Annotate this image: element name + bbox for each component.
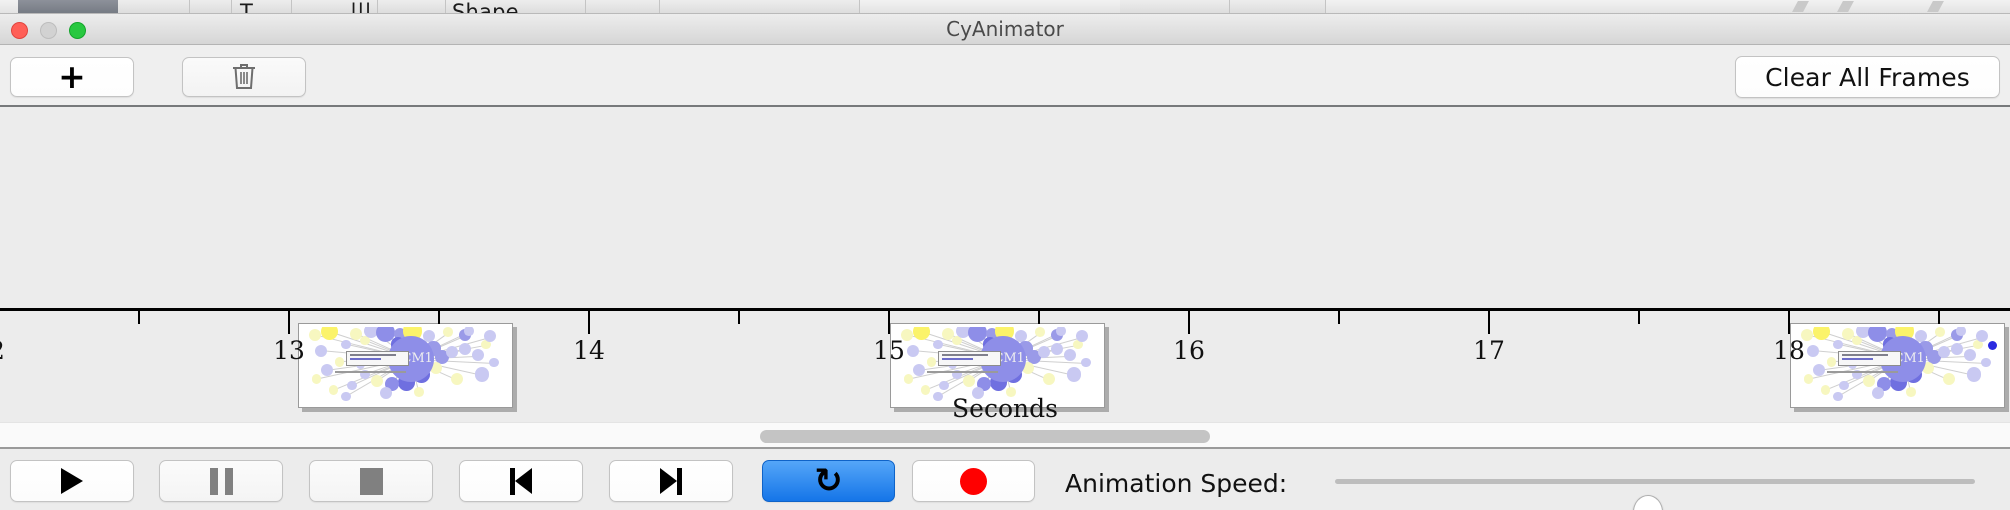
- record-button[interactable]: [912, 460, 1035, 502]
- loop-button[interactable]: ↻: [762, 460, 895, 502]
- time-ruler[interactable]: 12131415161718 Seconds: [0, 308, 2010, 422]
- skip-forward-icon: [660, 468, 682, 495]
- play-icon: [61, 468, 83, 494]
- delete-frame-button[interactable]: [182, 57, 306, 97]
- animation-speed-label: Animation Speed:: [1065, 469, 1287, 498]
- record-icon: [960, 468, 987, 495]
- skip-end-button[interactable]: [609, 460, 733, 502]
- scrollbar-thumb[interactable]: [760, 430, 1210, 443]
- tick-major: [1188, 311, 1190, 334]
- background-window-label: Shape: [452, 0, 519, 14]
- bg-fragment-ii: |||: [350, 0, 372, 14]
- tick-minor: [1338, 311, 1340, 324]
- skip-start-button[interactable]: [459, 460, 583, 502]
- tick-major: [288, 311, 290, 334]
- tick-label: 17: [1473, 336, 1505, 365]
- background-window-strip: T ||| Shape: [0, 0, 2010, 14]
- play-button[interactable]: [10, 460, 134, 502]
- axis-label: Seconds: [0, 394, 2010, 422]
- tick-major: [1788, 311, 1790, 334]
- tick-minor: [138, 311, 140, 324]
- loop-icon: ↻: [814, 464, 843, 498]
- animation-speed-slider[interactable]: [1335, 479, 1975, 484]
- tick-label: 13: [273, 336, 305, 365]
- tick-minor: [438, 311, 440, 324]
- clear-all-frames-button[interactable]: Clear All Frames: [1735, 56, 2000, 98]
- tick-major: [888, 311, 890, 334]
- tick-label: 14: [573, 336, 605, 365]
- pause-button[interactable]: [159, 460, 283, 502]
- tick-label: 18: [1773, 336, 1805, 365]
- cyanimator-window: T ||| Shape CyAnimator + Clear All: [0, 0, 2010, 510]
- tick-minor: [1938, 311, 1940, 324]
- title-bar: CyAnimator: [0, 14, 2010, 45]
- ruler-baseline: [0, 308, 2010, 311]
- clear-all-frames-label: Clear All Frames: [1765, 63, 1970, 92]
- timeline-panel[interactable]: MCM1MCM1MCM1 12131415161718 Seconds: [0, 109, 2010, 422]
- trash-icon: [231, 62, 257, 92]
- stop-icon: [360, 468, 383, 495]
- horizontal-scrollbar[interactable]: [0, 422, 2010, 449]
- add-frame-button[interactable]: +: [10, 57, 134, 97]
- frame-strip[interactable]: MCM1MCM1MCM1: [0, 109, 2010, 308]
- window-title: CyAnimator: [0, 14, 2010, 45]
- playback-bar: ↻ Animation Speed:: [0, 451, 2010, 510]
- tick-minor: [1638, 311, 1640, 324]
- bg-fragment-t: T: [240, 0, 253, 14]
- slider-thumb[interactable]: [1633, 495, 1663, 510]
- tick-major: [1488, 311, 1490, 334]
- tick-major: [588, 311, 590, 334]
- tick-minor: [1038, 311, 1040, 324]
- pause-icon: [210, 468, 233, 495]
- tick-label: 12: [0, 336, 5, 365]
- skip-back-icon: [510, 468, 532, 495]
- tick-label: 16: [1173, 336, 1205, 365]
- tick-minor: [738, 311, 740, 324]
- tick-label: 15: [873, 336, 905, 365]
- stop-button[interactable]: [309, 460, 433, 502]
- toolbar: + Clear All Frames: [0, 45, 2010, 107]
